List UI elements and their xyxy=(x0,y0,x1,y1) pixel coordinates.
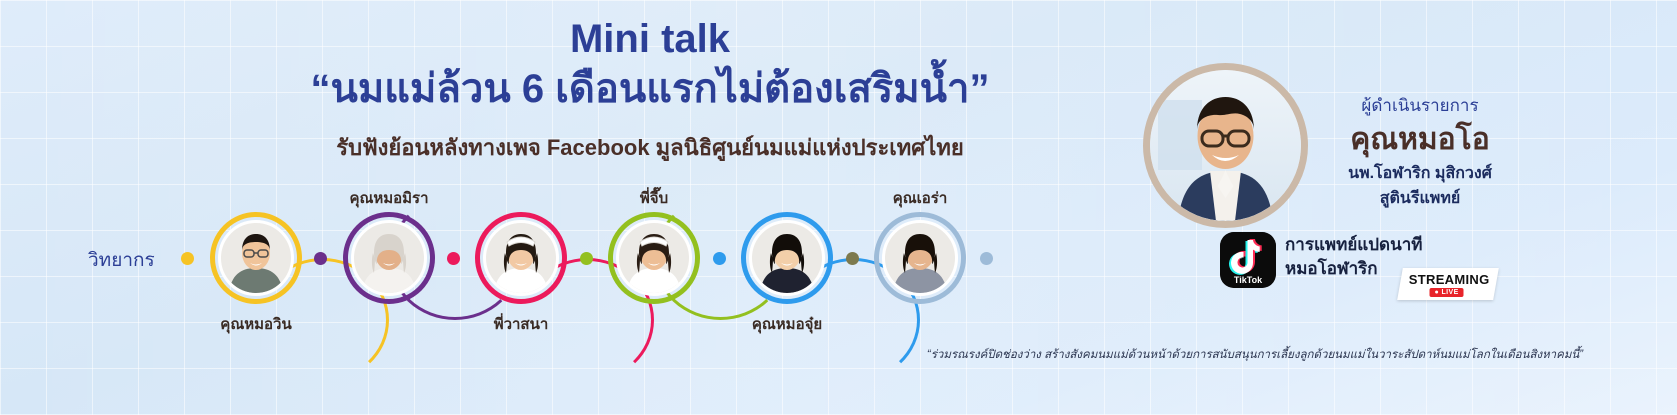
host-avatar xyxy=(1143,63,1308,228)
connector-dot xyxy=(713,252,726,265)
speaker-avatar-ring xyxy=(210,212,302,304)
connector-dot xyxy=(447,252,460,265)
page-title: Mini talk xyxy=(250,18,1050,60)
connector-dot xyxy=(980,252,993,265)
connector-dot xyxy=(314,252,327,265)
streaming-label: STREAMING xyxy=(1409,272,1490,287)
speaker-name: คุณหมอมิรา xyxy=(309,186,469,210)
connector-dot xyxy=(580,252,593,265)
headline-block: Mini talk “นมแม่ล้วน 6 เดือนแรกไม่ต้องเส… xyxy=(250,18,1050,165)
headline-subtitle: รับฟังย้อนหลังทางเพจ Facebook มูลนิธิศูน… xyxy=(250,130,1050,165)
speaker-portrait-icon xyxy=(619,223,689,293)
speaker-name: พี่จี๊บ xyxy=(574,186,734,210)
speaker-photo xyxy=(749,220,825,296)
speaker-node[interactable] xyxy=(343,212,435,304)
tiktok-icon[interactable]: TikTok xyxy=(1220,232,1276,288)
connector-dot xyxy=(846,252,859,265)
host-portrait-icon xyxy=(1150,70,1301,221)
speaker-name: คุณเอร่า xyxy=(840,186,1000,210)
connector-dot xyxy=(181,252,194,265)
speaker-portrait-icon xyxy=(885,223,955,293)
speaker-photo xyxy=(483,220,559,296)
speaker-portrait-icon xyxy=(486,223,556,293)
host-fullname: นพ.โอฬาริก มุสิกวงศ์ xyxy=(1320,163,1520,185)
live-badge: ● LIVE xyxy=(1430,288,1464,297)
host-role: ผู้ดำเนินรายการ xyxy=(1320,92,1520,119)
host-nickname: คุณหมอโอ xyxy=(1320,121,1520,159)
speaker-photo xyxy=(882,220,958,296)
speaker-avatar-ring xyxy=(343,212,435,304)
speaker-portrait-icon xyxy=(752,223,822,293)
speaker-name: พี่วาสนา xyxy=(441,312,601,336)
streaming-badge: STREAMING ● LIVE xyxy=(1397,268,1499,300)
speaker-node[interactable] xyxy=(475,212,567,304)
speaker-avatar-ring xyxy=(874,212,966,304)
speaker-portrait-icon xyxy=(354,223,424,293)
tiktok-channel-line1: การแพทย์แปดนาที xyxy=(1285,233,1422,257)
speaker-name: คุณหมอวิน xyxy=(176,312,336,336)
speaker-node[interactable] xyxy=(608,212,700,304)
host-info: ผู้ดำเนินรายการ คุณหมอโอ นพ.โอฬาริก มุสิ… xyxy=(1320,92,1520,210)
speaker-node[interactable] xyxy=(210,212,302,304)
campaign-note: “ร่วมรณรงค์ปิดช่องว่าง สร้างสังคมนมแม่ด้… xyxy=(845,346,1665,364)
speaker-photo xyxy=(616,220,692,296)
speaker-avatar-ring xyxy=(741,212,833,304)
speaker-name: คุณหมอจุ๋ย xyxy=(707,312,867,336)
speaker-portrait-icon xyxy=(221,223,291,293)
tiktok-wordmark: TikTok xyxy=(1234,275,1263,285)
speaker-photo xyxy=(218,220,294,296)
speaker-node[interactable] xyxy=(874,212,966,304)
promo-banner: Mini talk “นมแม่ล้วน 6 เดือนแรกไม่ต้องเส… xyxy=(0,0,1677,415)
speaker-photo xyxy=(351,220,427,296)
headline-quote: “นมแม่ล้วน 6 เดือนแรกไม่ต้องเสริมน้ำ” xyxy=(250,64,1050,114)
speaker-timeline: คุณหมอวินคุณหมอมิราพี่วาสนาพี่จี๊บคุณหมอ… xyxy=(0,185,1060,345)
speaker-avatar-ring xyxy=(608,212,700,304)
speaker-node[interactable] xyxy=(741,212,833,304)
speaker-avatar-ring xyxy=(475,212,567,304)
host-specialty: สูตินรีแพทย์ xyxy=(1320,188,1520,210)
